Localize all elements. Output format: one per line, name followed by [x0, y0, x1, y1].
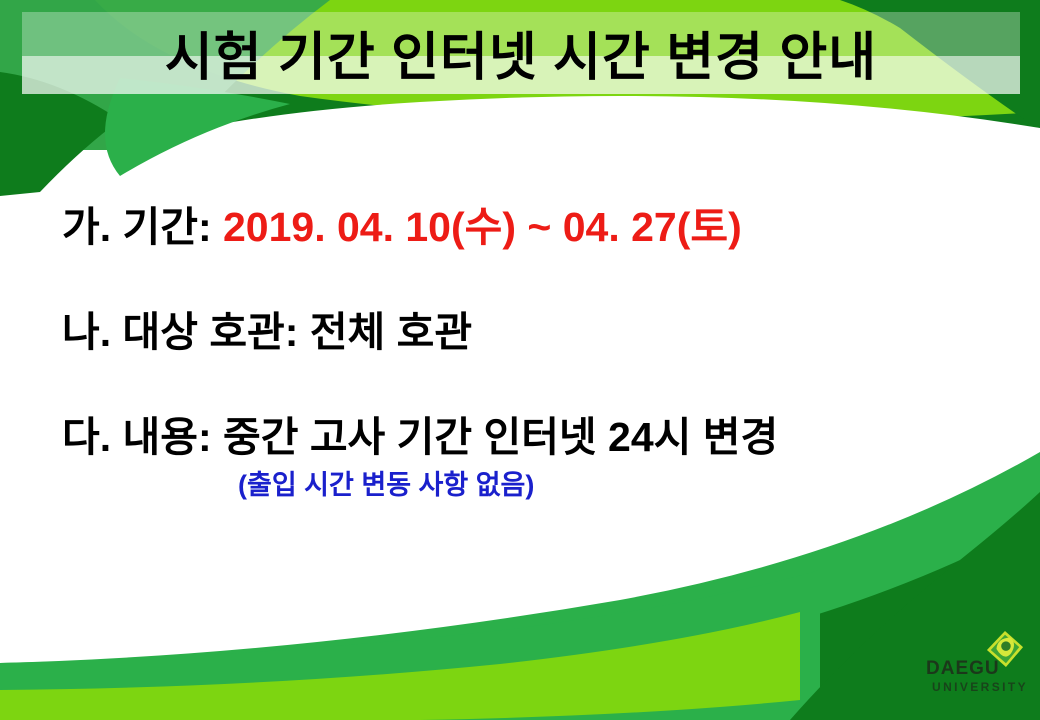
logo-wordmark: DAEGU [926, 658, 1000, 680]
content-line-period: 가. 기간: 2019. 04. 10(수) ~ 04. 27(토) [0, 206, 1040, 249]
university-logo: DAEGU UNIVERSITY [926, 630, 1026, 696]
content-line-target-label: 나. 대상 호관: 전체 호관 [62, 309, 472, 355]
content-sub-note: (출입 시간 변동 사항 없음) [0, 463, 1040, 502]
content-line-period-label: 가. 기간: [62, 204, 223, 250]
content-line-target: 나. 대상 호관: 전체 호관 [0, 311, 1040, 354]
content-line-period-value: 2019. 04. 10(수) ~ 04. 27(토) [223, 204, 742, 250]
logo-subtitle: UNIVERSITY [932, 680, 1028, 694]
content-line-detail: 다. 내용: 중간 고사 기간 인터넷 24시 변경 [0, 416, 1040, 459]
bottom-lime-accent [0, 612, 800, 720]
page-title: 시험 기간 인터넷 시간 변경 안내 [22, 10, 1020, 94]
body-content: 가. 기간: 2019. 04. 10(수) ~ 04. 27(토) 나. 대상… [0, 206, 1040, 502]
slide-root: 시험 기간 인터넷 시간 변경 안내 가. 기간: 2019. 04. 10(수… [0, 0, 1040, 720]
content-line-detail-label: 다. 내용: 중간 고사 기간 인터넷 24시 변경 [62, 414, 778, 460]
bottom-green-fill [0, 570, 820, 720]
